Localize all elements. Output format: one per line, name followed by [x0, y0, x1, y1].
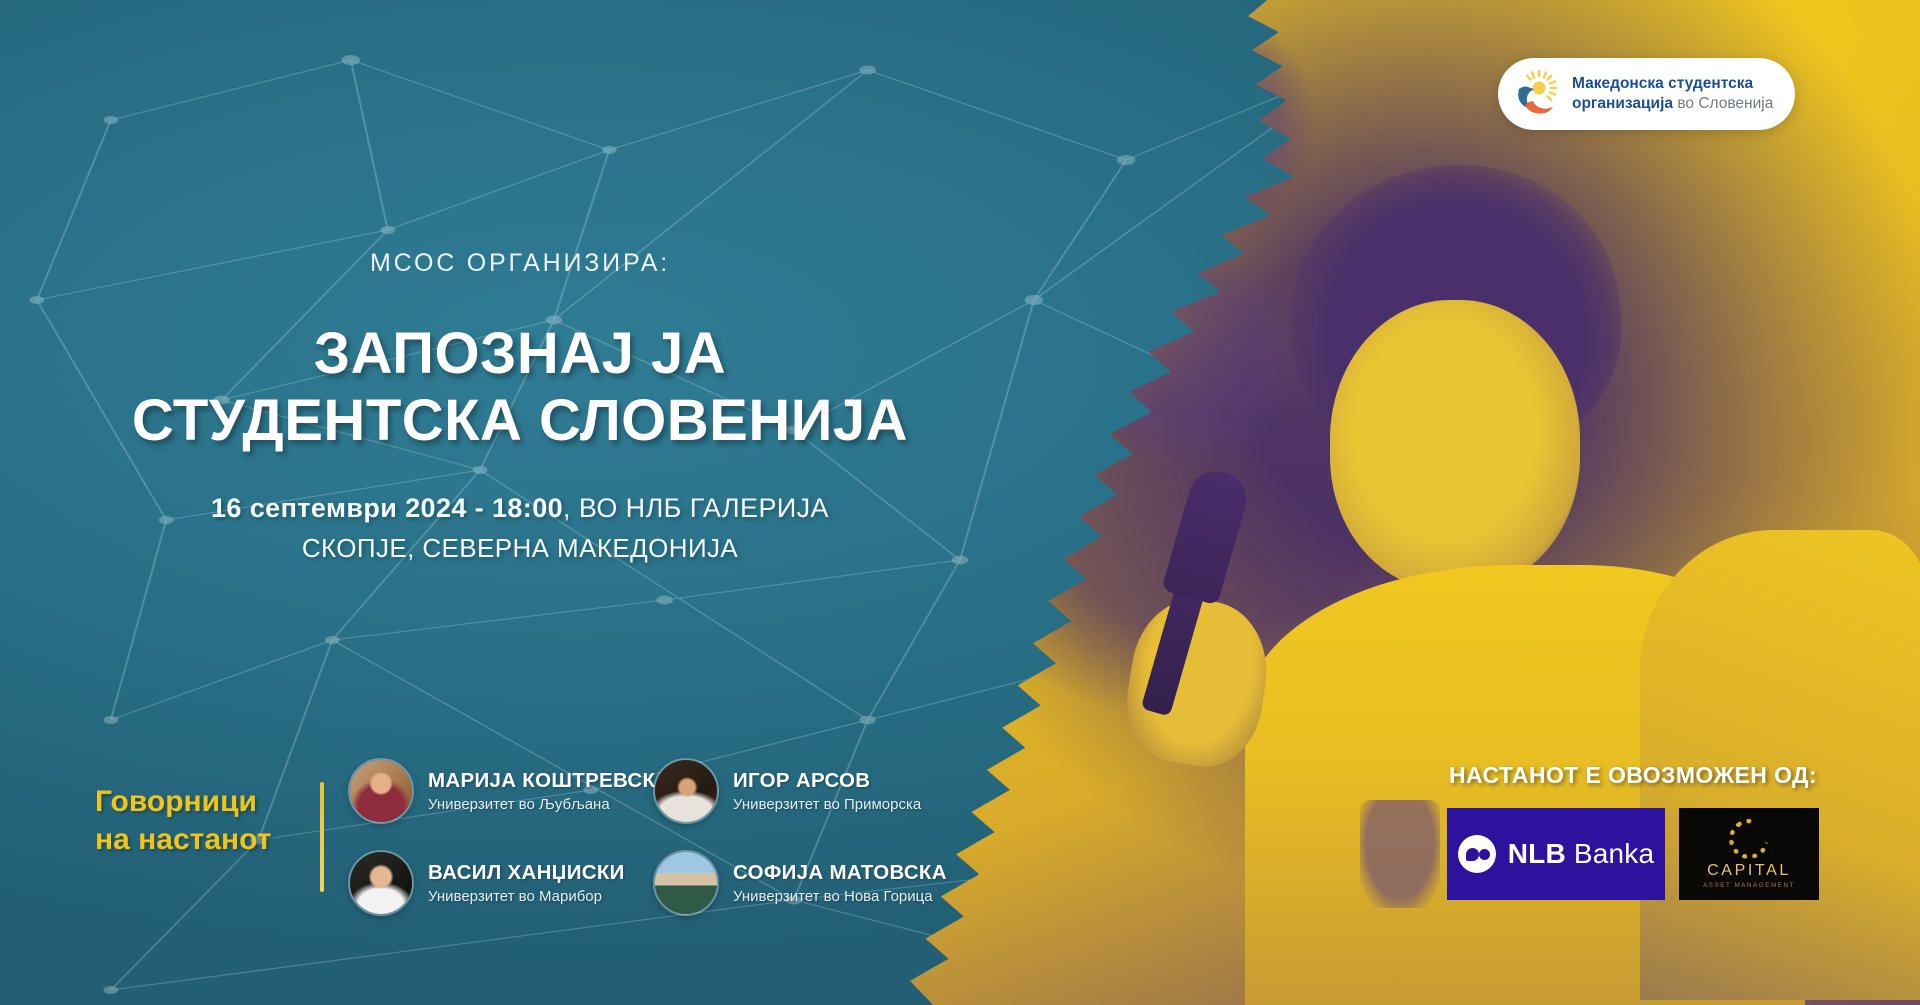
title-line-2: СТУДЕНТСКА СЛОВЕНИЈА	[0, 387, 1040, 454]
organization-logo[interactable]: Македонска студентска организација во Сл…	[1498, 58, 1795, 130]
poster-content: МСОС ОРГАНИЗИРА: ЗАПОЗНАЈ ЈА СТУДЕНТСКА …	[0, 0, 1920, 1005]
speaker-item: ВАСИЛ ХАНЏИСКИ Универзитет во Марибор	[348, 844, 653, 922]
speakers-heading: Говорници на настанот	[95, 783, 325, 859]
sun-handshake-emblem-icon	[1510, 69, 1560, 119]
capital-name: CAPITAL	[1707, 862, 1791, 880]
org-name-line-1: Македонска студентска	[1572, 74, 1773, 94]
avatar-igor	[653, 758, 719, 824]
capital-subtitle: ASSET MANAGEMENT	[1703, 882, 1795, 889]
speaker-name: СОФИЈА МАТОВСКА	[733, 861, 947, 885]
org-name-line-2-bold: организација	[1572, 95, 1673, 112]
event-datetime: 16 септември 2024 - 18:00	[211, 493, 563, 523]
sponsor-capital: CAPITAL ASSET MANAGEMENT	[1679, 808, 1819, 900]
speaker-university: Универзитет во Приморска	[733, 796, 921, 813]
nlb-name-bold: NLB	[1508, 838, 1566, 869]
speaker-name: ИГОР АРСОВ	[733, 769, 921, 793]
event-poster: МСОС ОРГАНИЗИРА: ЗАПОЗНАЈ ЈА СТУДЕНТСКА …	[0, 0, 1920, 1005]
speaker-university: Универзитет во Љубљана	[428, 796, 653, 813]
event-meta: 16 септември 2024 - 18:00, ВО НЛБ ГАЛЕРИ…	[0, 488, 1040, 568]
sponsors-heading: НАСТАНОТ Е ОВОЗМОЖЕН ОД:	[1447, 762, 1819, 789]
speakers-divider	[320, 782, 324, 892]
sponsors-list: NLB Banka CAPITAL ASSET MANAGEMENT	[1447, 808, 1819, 900]
speaker-university: Универзитет во Нова Горица	[733, 888, 947, 905]
page-title: ЗАПОЗНАЈ ЈА СТУДЕНТСКА СЛОВЕНИЈА	[0, 320, 1040, 455]
speaker-item: ИГОР АРСОВ Универзитет во Приморска	[653, 752, 958, 830]
nlb-name-regular: Banka	[1566, 838, 1654, 869]
nlb-logo-icon	[1458, 835, 1496, 873]
avatar-vasil	[348, 850, 414, 916]
speaker-university: Универзитет во Марибор	[428, 888, 625, 905]
speaker-item: МАРИЈА КОШТРЕВСКА Универзитет во Љубљана	[348, 752, 653, 830]
org-name-line-2-regular: во Словенија	[1677, 95, 1773, 112]
speakers-list: МАРИЈА КОШТРЕВСКА Универзитет во Љубљана…	[348, 752, 958, 922]
avatar-marija	[348, 758, 414, 824]
kicker-text: МСОС ОРГАНИЗИРА:	[0, 249, 1040, 278]
title-line-1: ЗАПОЗНАЈ ЈА	[314, 321, 726, 386]
avatar-sofija	[653, 850, 719, 916]
speaker-name: МАРИЈА КОШТРЕВСКА	[428, 769, 653, 793]
speakers-heading-line-1: Говорници	[95, 783, 325, 821]
capital-c-icon	[1721, 811, 1776, 866]
sponsor-nlb-banka: NLB Banka	[1447, 808, 1665, 900]
event-venue: , ВО НЛБ ГАЛЕРИЈА	[563, 493, 829, 523]
speaker-item: СОФИЈА МАТОВСКА Универзитет во Нова Гори…	[653, 844, 958, 922]
event-city: СКОПЈЕ, СЕВЕРНА МАКЕДОНИЈА	[0, 529, 1040, 568]
speaker-name: ВАСИЛ ХАНЏИСКИ	[428, 861, 625, 885]
speakers-heading-line-2: на настанот	[95, 821, 325, 859]
